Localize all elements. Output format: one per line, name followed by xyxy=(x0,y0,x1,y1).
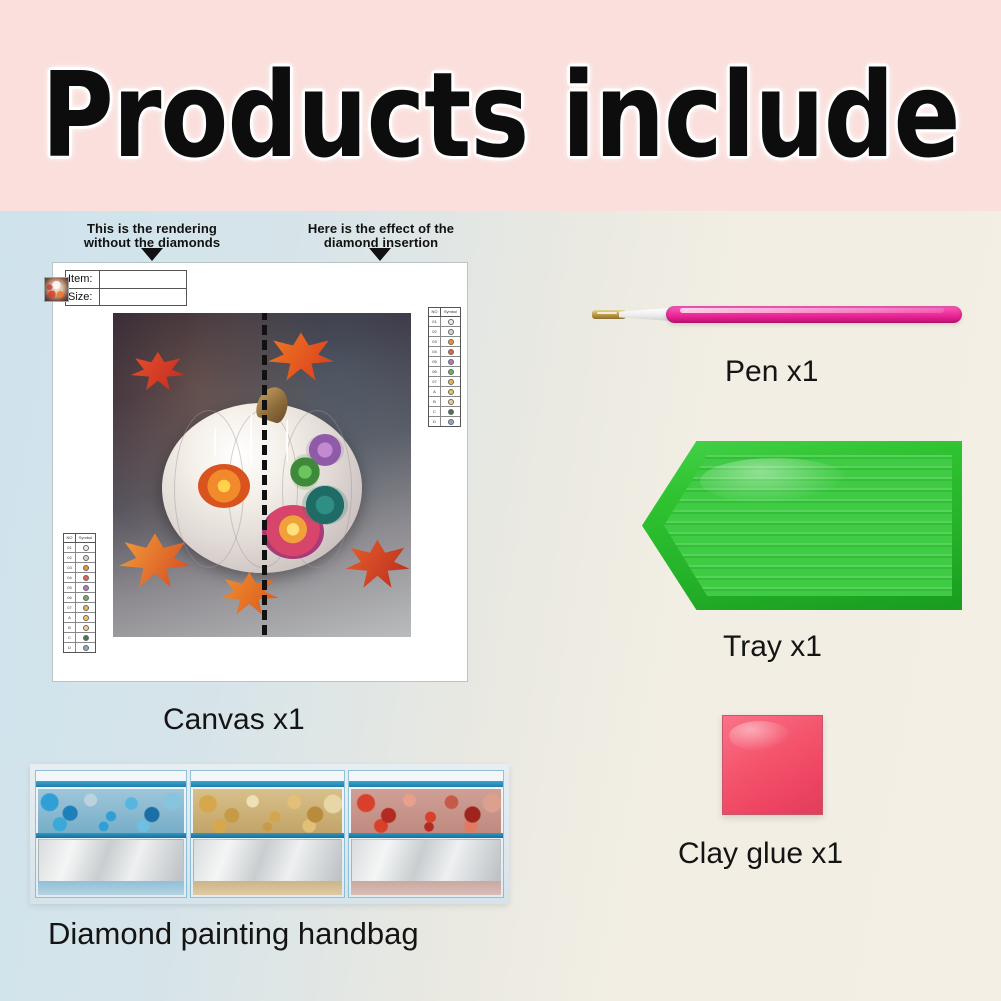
legend-no: 07 xyxy=(429,377,441,386)
legend-symbol xyxy=(441,387,460,396)
annotation-with-diamonds: Here is the effect of the diamond insert… xyxy=(288,222,474,250)
legend-symbol xyxy=(441,377,460,386)
legend-no: A xyxy=(429,387,441,396)
gems-overflow xyxy=(38,881,184,895)
tray-grooves xyxy=(664,455,952,596)
color-legend-table-right: NO Symbol 01 02 03 04 05 06 07 A B C D xyxy=(428,307,461,427)
legend-col-no: NO xyxy=(429,308,441,316)
pen-barrel xyxy=(666,306,962,323)
legend-no: A xyxy=(64,613,76,622)
legend-no: 02 xyxy=(64,553,76,562)
pen-label: Pen x1 xyxy=(725,355,818,389)
page-title: Products include xyxy=(35,56,966,174)
gems-gold xyxy=(193,789,342,833)
gems-red xyxy=(351,789,501,833)
zip-seal xyxy=(349,781,503,787)
canvas-sheet: Item: Size: xyxy=(52,262,468,682)
legend-symbol xyxy=(76,563,95,572)
bead-strand xyxy=(214,427,217,457)
tray-label: Tray x1 xyxy=(723,630,822,664)
zip-seal-lower xyxy=(349,833,503,838)
zip-seal xyxy=(36,781,186,787)
legend-symbol xyxy=(441,407,460,416)
legend-symbol xyxy=(76,573,95,582)
legend-symbol xyxy=(76,603,95,612)
pen-item xyxy=(588,297,973,333)
item-value xyxy=(100,271,186,288)
zip-seal-lower xyxy=(191,833,344,838)
legend-no: 07 xyxy=(64,603,76,612)
clay-glue-label: Clay glue x1 xyxy=(678,837,843,871)
maple-leaf xyxy=(131,352,185,392)
legend-col-no: NO xyxy=(64,534,76,542)
legend-no: B xyxy=(64,623,76,632)
legend-no: 06 xyxy=(429,367,441,376)
maple-leaf xyxy=(220,572,278,616)
legend-no: 01 xyxy=(64,543,76,552)
bead-strand xyxy=(286,420,289,462)
legend-symbol xyxy=(76,593,95,602)
maple-leaf xyxy=(268,332,334,382)
item-label: Item: xyxy=(66,271,100,288)
zip-seal-lower xyxy=(36,833,186,838)
legend-no: 02 xyxy=(429,327,441,336)
legend-symbol xyxy=(441,317,460,326)
legend-symbol xyxy=(441,397,460,406)
item-field-row: Item: xyxy=(66,271,186,289)
legend-no: 03 xyxy=(429,337,441,346)
handbag-item xyxy=(30,764,509,904)
legend-symbol xyxy=(441,367,460,376)
legend-no: C xyxy=(64,633,76,642)
legend-header: NO Symbol xyxy=(64,534,95,543)
legend-no: 01 xyxy=(429,317,441,326)
color-legend-table-left: NO Symbol 01 02 03 04 05 06 07 A B C D xyxy=(63,533,96,653)
maple-leaf xyxy=(119,533,191,589)
legend-symbol xyxy=(76,643,95,652)
legend-no: D xyxy=(64,643,76,652)
legend-no: 04 xyxy=(429,347,441,356)
legend-symbol xyxy=(76,543,95,552)
legend-symbol xyxy=(441,337,460,346)
legend-symbol xyxy=(441,417,460,426)
gems-overflow xyxy=(351,881,501,895)
handbag-label: Diamond painting handbag xyxy=(48,917,419,951)
product-include-infographic: Products include This is the rendering w… xyxy=(0,0,1001,1001)
zip-seal xyxy=(191,781,344,787)
legend-no: 05 xyxy=(64,583,76,592)
legend-no: 05 xyxy=(429,357,441,366)
pen-ferrule xyxy=(619,308,671,321)
legend-no: 04 xyxy=(64,573,76,582)
canvas-item: Item: Size: xyxy=(44,258,476,686)
comparison-divider xyxy=(262,313,267,637)
canvas-label: Canvas x1 xyxy=(163,703,305,737)
legend-symbol xyxy=(441,357,460,366)
gem-pouch xyxy=(348,770,504,898)
gems-overflow xyxy=(193,881,342,895)
legend-symbol xyxy=(441,327,460,336)
size-value xyxy=(100,289,186,306)
bead-strand xyxy=(250,413,253,467)
clay-glue-item xyxy=(722,715,823,815)
foliage-green xyxy=(290,454,320,490)
gem-pouch xyxy=(35,770,187,898)
legend-header: NO Symbol xyxy=(429,308,460,317)
artwork-thumbnail xyxy=(44,277,69,302)
size-field-row: Size: xyxy=(66,289,186,306)
legend-symbol xyxy=(76,553,95,562)
gem-pouch xyxy=(190,770,345,898)
item-size-box: Item: Size: xyxy=(65,270,187,306)
size-label: Size: xyxy=(66,289,100,306)
foliage-teal xyxy=(302,485,348,525)
annotation-no-diamonds: This is the rendering without the diamon… xyxy=(62,222,242,250)
legend-no: B xyxy=(429,397,441,406)
pumpkin-artwork xyxy=(113,313,411,637)
legend-symbol xyxy=(76,623,95,632)
legend-col-symbol: Symbol xyxy=(76,534,95,542)
legend-no: C xyxy=(429,407,441,416)
legend-symbol xyxy=(441,347,460,356)
flower-orange xyxy=(198,464,250,508)
legend-symbol xyxy=(76,633,95,642)
legend-symbol xyxy=(76,583,95,592)
gems-blue xyxy=(38,789,184,833)
legend-no: D xyxy=(429,417,441,426)
legend-no: 06 xyxy=(64,593,76,602)
legend-symbol xyxy=(76,613,95,622)
legend-no: 03 xyxy=(64,563,76,572)
maple-leaf xyxy=(345,540,409,590)
header-banner: Products include xyxy=(0,0,1001,211)
legend-col-symbol: Symbol xyxy=(441,308,460,316)
